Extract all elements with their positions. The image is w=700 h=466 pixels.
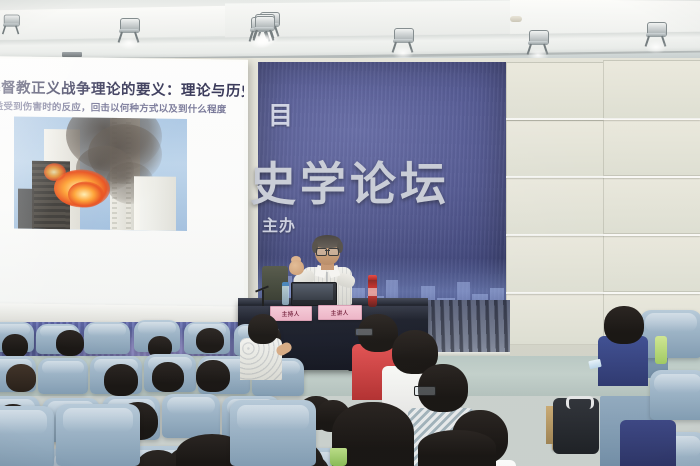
audience-head [104,364,138,396]
smoke-detector-icon [510,16,522,22]
wall-panel [603,233,700,293]
wall-seam [506,292,700,294]
ceiling-slab-left [0,6,230,40]
banner-line-top: 目 [268,96,294,132]
speaker-hand [289,260,304,275]
water-bottle-cap [282,282,289,286]
backpack-strap [566,396,594,409]
audience-head [196,328,224,353]
seat[interactable] [640,310,700,358]
laptop-screen [293,284,333,300]
seat[interactable] [0,406,54,466]
audience-head [56,330,84,356]
lecture-hall-photo: 目 史学论坛 主办 基督教正义战争理论的要义：理论与历史 利益受到伤害时的反应，… [0,0,700,466]
wall-panel [506,62,605,122]
banner-line-main: 史学论坛 [250,148,450,214]
audience-head [196,360,230,392]
audience-head [604,306,644,344]
cola-bottle-label [368,288,377,296]
seat[interactable] [56,404,140,466]
spotlight-icon [392,28,414,54]
foreground-head [418,430,496,466]
spotlight-icon [645,22,667,48]
seat[interactable] [650,370,700,420]
wall-panel [506,235,605,295]
seat[interactable] [162,394,220,438]
seat[interactable] [84,322,130,354]
audience-head [152,362,184,392]
audience-head [6,364,36,392]
audience-torso-blue [620,420,676,466]
wall-seam [506,234,700,236]
glasses-icon [414,386,436,396]
audience-torso-pattern [240,338,282,380]
cola-bottle-cap [368,275,377,280]
seat[interactable] [230,400,316,466]
screen-glare [0,58,244,309]
seat[interactable] [38,358,88,394]
wall-panel [603,60,700,120]
wall-panel [603,118,700,177]
glasses-icon [355,328,373,336]
spotlight-icon [527,30,549,56]
wall-panel [506,120,605,179]
spotlight-icon [2,15,20,36]
audience-head [2,334,28,358]
wall-seam [506,176,700,178]
audience-head [248,314,278,344]
banner-line-bottom: 主办 [262,212,296,236]
wall-panel [603,175,700,235]
wall-seam [506,118,700,120]
green-cup [330,448,347,466]
spotlight-icon [253,16,275,42]
spotlight-icon [118,18,140,44]
wall-panel [506,177,605,237]
green-bottle [655,336,667,364]
